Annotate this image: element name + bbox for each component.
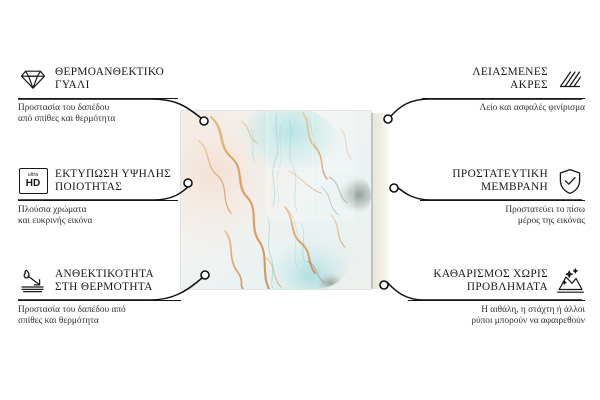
divider [18, 300, 181, 301]
glass-side-edge [371, 113, 389, 289]
product-image [181, 111, 389, 289]
feature-protective-membrane: ΠΡΟΣΤΑΤΕΥΤΙΚΗ ΜΕΜΒΡΑΝΗ Προστατεύει το πί… [420, 166, 585, 228]
connector-dot-5 [390, 184, 398, 192]
glass-panel [181, 111, 371, 289]
divider [18, 98, 178, 99]
divider [420, 200, 585, 201]
feature-body: Λείο και ασφαλές φινίρισμα [422, 103, 585, 114]
divider [18, 200, 178, 201]
feature-heading: ultra HD ΕΚΤΥΠΩΣΗ ΥΨΗΛΗΣ ΠΟΙΟΤΗΤΑΣ [18, 166, 178, 196]
feature-body: Προστασία του δαπέδου από σπίθες και θερ… [18, 103, 178, 126]
feature-heading: ΠΡΟΣΤΑΤΕΥΤΙΚΗ ΜΕΜΒΡΑΝΗ [420, 166, 585, 196]
feature-heat-durability: ΑΝΘΕΚΤΙΚΟΤΗΤΑ ΣΤΗ ΘΕΡΜΟΤΗΤΑ Προστασία το… [18, 266, 181, 328]
shield-check-icon [555, 166, 585, 196]
diagonal-stripes-icon [555, 64, 585, 94]
feature-title: ΚΑΘΑΡΙΣΜΟΣ ΧΩΡΙΣ ΠΡΟΒΛΗΜΑΤΑ [433, 268, 548, 295]
feature-title: ΕΚΤΥΠΩΣΗ ΥΨΗΛΗΣ ΠΟΙΟΤΗΤΑΣ [55, 168, 171, 195]
feature-heading: ΑΝΘΕΚΤΙΚΟΤΗΤΑ ΣΤΗ ΘΕΡΜΟΤΗΤΑ [18, 266, 181, 296]
divider [422, 98, 585, 99]
divider [408, 300, 585, 301]
sparkle-wipe-icon [555, 266, 585, 296]
ultra-hd-icon: ultra HD [18, 166, 48, 196]
feature-heading: ΛΕΙΑΣΜΕΝΕΣ ΑΚΡΕΣ [422, 64, 585, 94]
marble-artwork [181, 111, 371, 289]
feature-title: ΛΕΙΑΣΜΕΝΕΣ ΑΚΡΕΣ [472, 66, 548, 93]
feature-title: ΠΡΟΣΤΑΤΕΥΤΙΚΗ ΜΕΜΒΡΑΝΗ [452, 168, 548, 195]
flame-deflect-icon [18, 266, 48, 296]
feature-title: ΑΝΘΕΚΤΙΚΟΤΗΤΑ ΣΤΗ ΘΕΡΜΟΤΗΤΑ [55, 268, 154, 295]
diamond-icon [18, 64, 48, 94]
feature-heading: ΚΑΘΑΡΙΣΜΟΣ ΧΩΡΙΣ ΠΡΟΒΛΗΜΑΤΑ [408, 266, 585, 296]
feature-body: Πλούσια χρώματα και ευκρινής εικόνα [18, 205, 178, 228]
feature-title: ΘΕΡΜΟΑΝΘΕΚΤΙΚΟ ΓΥΑΛΙ [55, 66, 164, 93]
feature-heat-resistant-glass: ΘΕΡΜΟΑΝΘΕΚΤΙΚΟ ΓΥΑΛΙ Προστασία του δαπέδ… [18, 64, 178, 126]
feature-polished-edges: ΛΕΙΑΣΜΕΝΕΣ ΑΚΡΕΣ Λείο και ασφαλές φινίρι… [422, 64, 585, 114]
feature-heading: ΘΕΡΜΟΑΝΘΕΚΤΙΚΟ ΓΥΑΛΙ [18, 64, 178, 94]
feature-easy-cleaning: ΚΑΘΑΡΙΣΜΟΣ ΧΩΡΙΣ ΠΡΟΒΛΗΜΑΤΑ Η αιθάλη, η … [408, 266, 585, 328]
hd-label: HD [26, 179, 40, 189]
infographic-canvas: ΘΕΡΜΟΑΝΘΕΚΤΙΚΟ ΓΥΑΛΙ Προστασία του δαπέδ… [0, 0, 600, 400]
feature-body: Προστασία του δαπέδου από σπίθες και θερ… [18, 305, 181, 328]
feature-body: Η αιθάλη, η στάχτη ή άλλοι ρύποι μπορούν… [408, 305, 585, 328]
feature-high-quality-print: ultra HD ΕΚΤΥΠΩΣΗ ΥΨΗΛΗΣ ΠΟΙΟΤΗΤΑΣ Πλούσ… [18, 166, 178, 228]
feature-body: Προστατεύει το πίσω μέρος της εικόνας [420, 205, 585, 228]
